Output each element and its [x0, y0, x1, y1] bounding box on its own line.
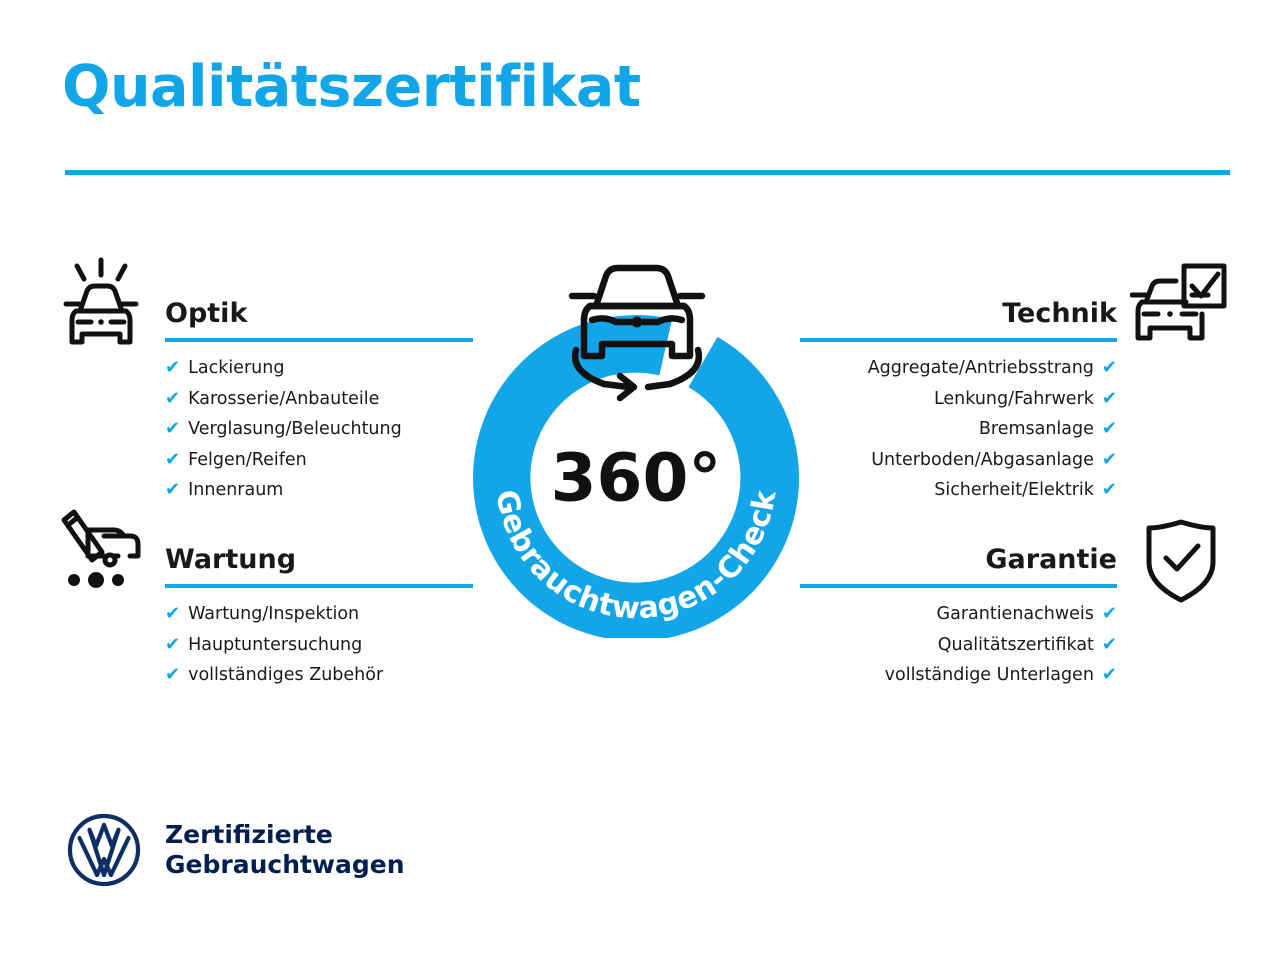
list-item-label: Felgen/Reifen [188, 452, 307, 470]
section-divider-technik [800, 338, 1117, 342]
list-item: Aggregate/Antriebsstrang ✔ [800, 359, 1117, 378]
list-item-label: Bremsanlage [979, 421, 1094, 439]
check-icon: ✔ [1102, 636, 1117, 654]
list-item: Lenkung/Fahrwerk ✔ [800, 390, 1117, 409]
section-list-optik: ✔ Lackierung ✔ Karosserie/Anbauteile ✔ V… [165, 359, 473, 500]
check-icon: ✔ [1102, 605, 1117, 623]
section-divider-optik [165, 338, 473, 342]
list-item-label: vollständiges Zubehör [188, 667, 383, 685]
footer-line-1: Zertifizierte [165, 820, 333, 849]
check-icon: ✔ [165, 390, 180, 408]
header-divider [65, 170, 1230, 175]
footer-logo-block: Zertifizierte Gebrauchtwagen [66, 812, 405, 888]
section-wartung: Wartung ✔ Wartung/Inspektion ✔ Hauptunte… [165, 546, 473, 697]
footer-label: Zertifizierte Gebrauchtwagen [165, 820, 405, 881]
section-garantie: Garantie Garantienachweis ✔ Qualitätszer… [800, 546, 1117, 697]
check-icon: ✔ [1102, 359, 1117, 377]
check-icon: ✔ [1102, 666, 1117, 684]
shield-check-icon [1143, 518, 1219, 608]
list-item: Garantienachweis ✔ [800, 605, 1117, 624]
check-icon: ✔ [1102, 481, 1117, 499]
section-title-optik: Optik [165, 300, 473, 327]
section-divider-wartung [165, 584, 473, 588]
list-item: ✔ Innenraum [165, 481, 473, 500]
section-optik: Optik ✔ Lackierung ✔ Karosserie/Anbautei… [165, 300, 473, 512]
list-item: ✔ Felgen/Reifen [165, 451, 473, 470]
section-divider-garantie [800, 584, 1117, 588]
list-item-label: Qualitätszertifikat [938, 637, 1094, 655]
list-item-label: Lackierung [188, 360, 284, 378]
list-item: ✔ Hauptuntersuchung [165, 636, 473, 655]
check-icon: ✔ [1102, 451, 1117, 469]
car-shine-icon [58, 256, 144, 352]
list-item: vollständige Unterlagen ✔ [800, 666, 1117, 685]
list-item-label: Unterboden/Abgasanlage [871, 452, 1094, 470]
list-item: ✔ Lackierung [165, 359, 473, 378]
list-item: Bremsanlage ✔ [800, 420, 1117, 439]
list-item: ✔ Karosserie/Anbauteile [165, 390, 473, 409]
list-item: ✔ vollständiges Zubehör [165, 666, 473, 685]
list-item-label: Wartung/Inspektion [188, 606, 359, 624]
list-item-label: Karosserie/Anbauteile [188, 391, 379, 409]
360-check-badge: Gebrauchtwagen-Check 360° [458, 248, 814, 638]
check-icon: ✔ [1102, 390, 1117, 408]
check-icon: ✔ [165, 481, 180, 499]
page-title: Qualitätszertifikat [62, 58, 641, 118]
section-title-wartung: Wartung [165, 546, 473, 573]
section-list-technik: Aggregate/Antriebsstrang ✔ Lenkung/Fahrw… [800, 359, 1117, 500]
list-item-label: Garantienachweis [937, 606, 1094, 624]
check-icon: ✔ [165, 451, 180, 469]
car-checkbox-icon [1130, 262, 1228, 350]
list-item-label: Sicherheit/Elektrik [934, 482, 1094, 500]
badge-center-value: 360° [551, 440, 722, 517]
check-icon: ✔ [165, 359, 180, 377]
check-icon: ✔ [165, 666, 180, 684]
list-item-label: Aggregate/Antriebsstrang [868, 360, 1094, 378]
list-item: ✔ Verglasung/Beleuchtung [165, 420, 473, 439]
volkswagen-logo [66, 812, 142, 888]
list-item-label: Verglasung/Beleuchtung [188, 421, 402, 439]
section-title-technik: Technik [800, 300, 1117, 327]
list-item-label: vollständige Unterlagen [885, 667, 1094, 685]
list-item-label: Lenkung/Fahrwerk [934, 391, 1094, 409]
list-item-label: Hauptuntersuchung [188, 637, 362, 655]
section-list-garantie: Garantienachweis ✔ Qualitätszertifikat ✔… [800, 605, 1117, 685]
section-list-wartung: ✔ Wartung/Inspektion ✔ Hauptuntersuchung… [165, 605, 473, 685]
list-item-label: Innenraum [188, 482, 283, 500]
wrench-car-icon [58, 508, 148, 596]
list-item: Qualitätszertifikat ✔ [800, 636, 1117, 655]
list-item: Unterboden/Abgasanlage ✔ [800, 451, 1117, 470]
footer-line-2: Gebrauchtwagen [165, 850, 405, 879]
section-technik: Technik Aggregate/Antriebsstrang ✔ Lenku… [800, 300, 1117, 512]
quality-certificate-page: Qualitätszertifikat [0, 0, 1280, 960]
list-item: Sicherheit/Elektrik ✔ [800, 481, 1117, 500]
check-icon: ✔ [1102, 420, 1117, 438]
list-item: ✔ Wartung/Inspektion [165, 605, 473, 624]
check-icon: ✔ [165, 605, 180, 623]
check-icon: ✔ [165, 420, 180, 438]
check-icon: ✔ [165, 636, 180, 654]
section-title-garantie: Garantie [800, 546, 1117, 573]
